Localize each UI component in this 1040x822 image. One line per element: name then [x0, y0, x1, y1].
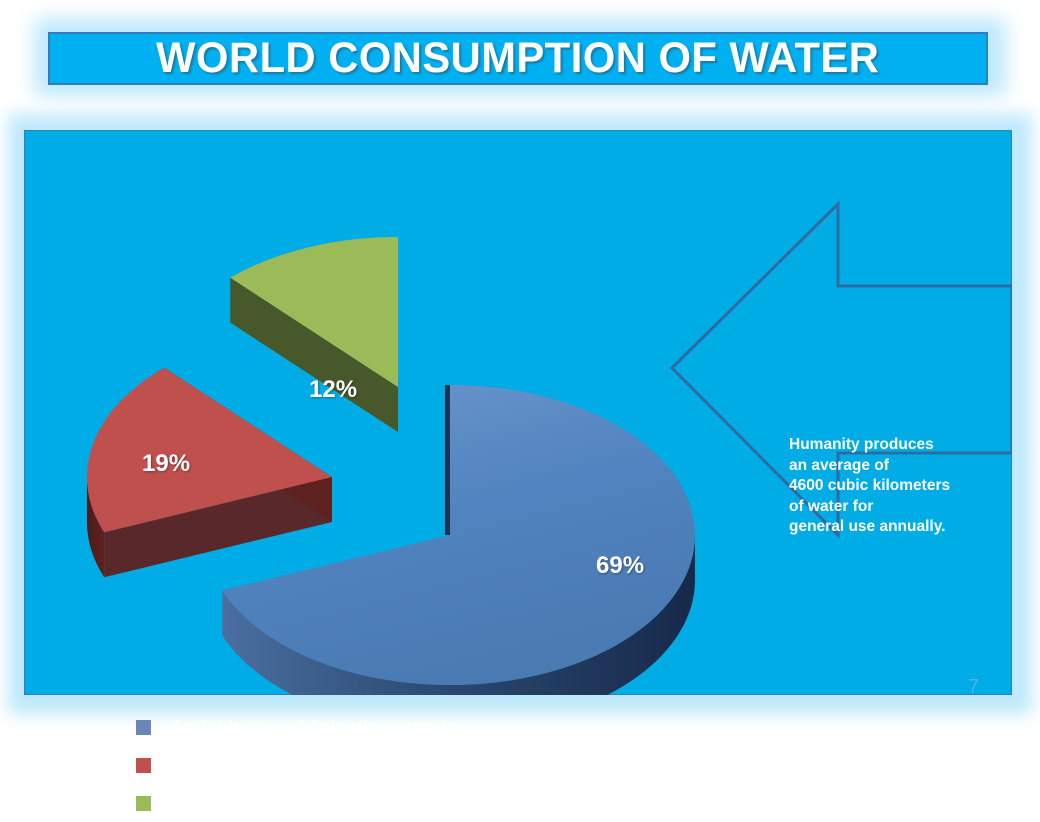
legend-label-drinking: Drinking and household purpose: [171, 793, 455, 813]
callout-text: Humanity produces an average of 4600 cub…: [789, 435, 1039, 538]
legend-item-industrial[interactable]: Industrial purpose: [136, 746, 467, 784]
legend-label-agriculture: Agriculture and irrigation purpose: [171, 717, 467, 737]
page-title: WORLD CONSUMPTION OF WATER: [156, 37, 879, 80]
legend-item-drinking[interactable]: Drinking and household purpose: [136, 784, 467, 822]
pie-chart: 69% 19% 12% Humanity produces an average…: [24, 130, 1012, 695]
slide-canvas: WORLD CONSUMPTION OF WATER: [0, 0, 1040, 720]
legend-item-agriculture[interactable]: Agriculture and irrigation purpose: [136, 708, 467, 746]
slide-number: 7: [968, 676, 979, 699]
chart-legend: Agriculture and irrigation purpose Indus…: [136, 708, 467, 822]
slide-title-bar: WORLD CONSUMPTION OF WATER: [48, 32, 988, 85]
legend-label-industrial: Industrial purpose: [171, 755, 330, 775]
legend-swatch-drinking: [136, 796, 151, 811]
callout-arrow: [24, 130, 1012, 695]
legend-swatch-agriculture: [136, 720, 151, 735]
legend-swatch-industrial: [136, 758, 151, 773]
